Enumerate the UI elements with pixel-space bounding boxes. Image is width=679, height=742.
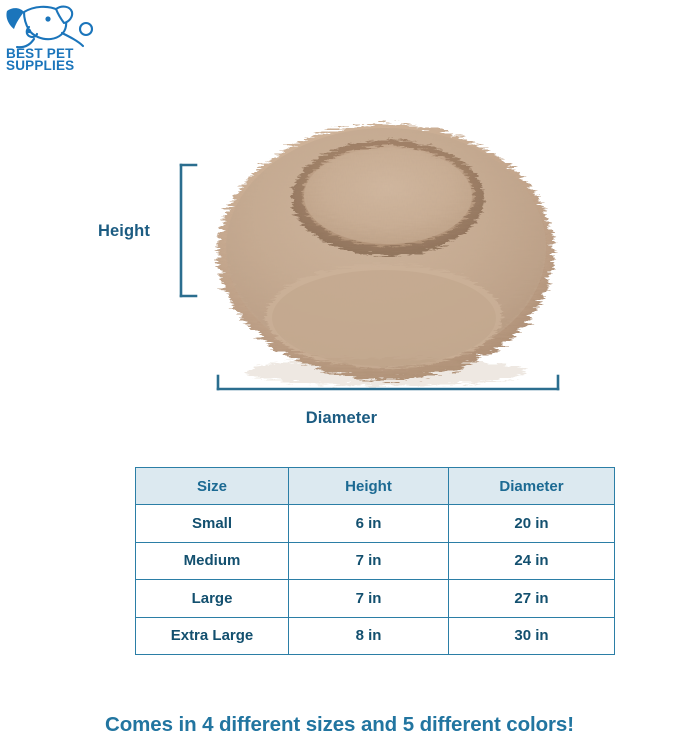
table-row: Medium 7 in 24 in — [136, 542, 615, 579]
diameter-label: Diameter — [0, 409, 679, 428]
cell-size: Small — [136, 505, 289, 542]
column-header-diameter: Diameter — [449, 468, 615, 505]
brand-logo: BEST PET SUPPLIES — [4, 3, 96, 71]
cell-height: 8 in — [289, 617, 449, 654]
cell-diameter: 27 in — [449, 580, 615, 617]
cell-diameter: 24 in — [449, 542, 615, 579]
height-label: Height — [98, 222, 150, 241]
column-header-height: Height — [289, 468, 449, 505]
column-header-size: Size — [136, 468, 289, 505]
table-row: Large 7 in 27 in — [136, 580, 615, 617]
size-chart-table: Size Height Diameter Small 6 in 20 in Me… — [135, 467, 615, 655]
cell-height: 7 in — [289, 542, 449, 579]
cell-height: 7 in — [289, 580, 449, 617]
pet-bed-image — [212, 80, 560, 390]
table-header-row: Size Height Diameter — [136, 468, 615, 505]
cell-size: Extra Large — [136, 617, 289, 654]
cell-diameter: 30 in — [449, 617, 615, 654]
table-row: Small 6 in 20 in — [136, 505, 615, 542]
table-row: Extra Large 8 in 30 in — [136, 617, 615, 654]
cell-height: 6 in — [289, 505, 449, 542]
brand-line-2: SUPPLIES — [6, 58, 74, 71]
cell-size: Medium — [136, 542, 289, 579]
dog-logo-icon: BEST PET SUPPLIES — [4, 3, 96, 71]
cell-size: Large — [136, 580, 289, 617]
cell-diameter: 20 in — [449, 505, 615, 542]
footer-tagline: Comes in 4 different sizes and 5 differe… — [0, 713, 679, 737]
